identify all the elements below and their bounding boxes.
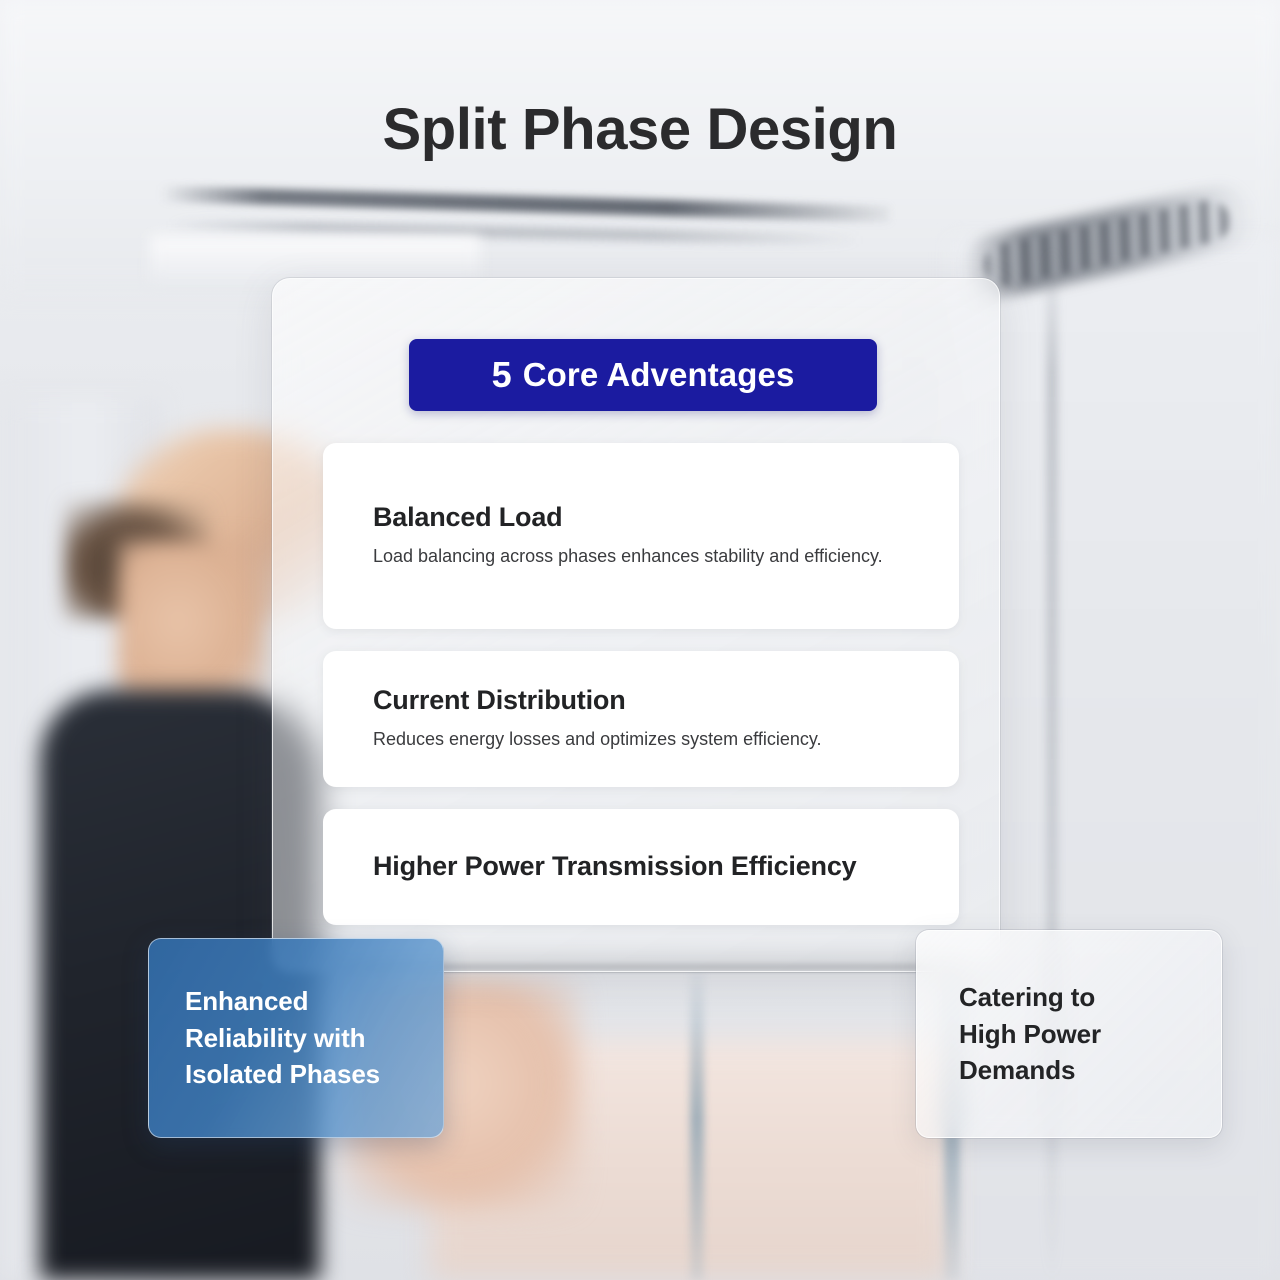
callout-text: Catering to High Power Demands	[951, 979, 1101, 1090]
advantage-card[interactable]: Higher Power Transmission Efficiency	[323, 809, 959, 925]
advantage-card-description: Reduces energy losses and optimizes syst…	[373, 726, 909, 753]
infographic-stage: Split Phase Design 5 Core Adventages Bal…	[0, 0, 1280, 1280]
advantage-card[interactable]: Current Distribution Reduces energy loss…	[323, 651, 959, 787]
page-title: Split Phase Design	[0, 96, 1280, 163]
advantage-card-description: Load balancing across phases enhances st…	[373, 543, 903, 570]
advantage-card-title: Higher Power Transmission Efficiency	[373, 851, 909, 883]
advantage-card-title: Current Distribution	[373, 685, 909, 717]
badge-number: 5	[492, 354, 512, 396]
background-shelf	[150, 236, 480, 282]
core-advantages-badge: 5 Core Adventages	[409, 339, 877, 411]
advantage-card[interactable]: Balanced Load Load balancing across phas…	[323, 443, 959, 629]
callout-enhanced-reliability[interactable]: Enhanced Reliability with Isolated Phase…	[148, 938, 444, 1138]
callout-text: Enhanced Reliability with Isolated Phase…	[183, 983, 380, 1094]
main-glass-panel: 5 Core Adventages Balanced Load Load bal…	[272, 278, 1000, 972]
badge-label: Core Adventages	[523, 356, 795, 394]
advantage-card-title: Balanced Load	[373, 502, 909, 534]
background-glass-partition-left	[690, 960, 704, 1280]
callout-high-power-demands[interactable]: Catering to High Power Demands	[916, 930, 1222, 1138]
advantage-card-list: Balanced Load Load balancing across phas…	[323, 443, 959, 947]
